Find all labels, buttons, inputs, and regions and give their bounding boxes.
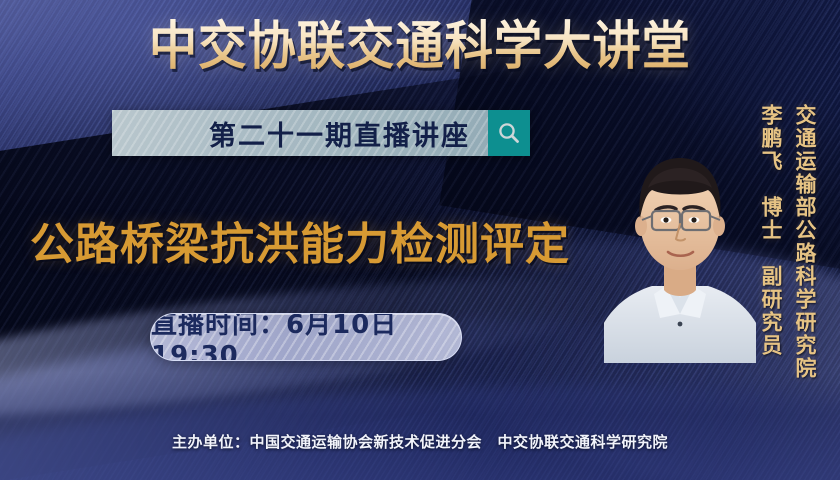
- search-icon-box[interactable]: [488, 110, 530, 156]
- speaker-organization: 交通运输部公路科学研究院: [790, 104, 820, 380]
- main-title: 中交协联交通科学大讲堂: [29, 18, 810, 76]
- episode-label: 第二十一期直播讲座: [209, 114, 470, 153]
- footer-gradient-band: [0, 372, 840, 480]
- live-time-pill: 直播时间：6月10日19:30: [150, 313, 462, 361]
- footer-organizers: 主办单位：中国交通运输协会新技术促进分会 中交协联交通科学研究院: [0, 431, 840, 452]
- episode-bar: 第二十一期直播讲座: [112, 110, 530, 156]
- speaker-name-title: 李鹏飞 博士 副研究员: [756, 104, 786, 357]
- search-icon: [496, 120, 522, 146]
- lecture-title: 公路桥梁抗洪能力检测评定: [30, 208, 570, 272]
- speaker-portrait: [604, 118, 756, 363]
- episode-bar-fill: 第二十一期直播讲座: [112, 110, 488, 156]
- live-time-label: 直播时间：6月10日19:30: [151, 313, 461, 361]
- speaker-portrait-image: [604, 118, 756, 363]
- poster-canvas: 中交协联交通科学大讲堂 第二十一期直播讲座 公路桥梁抗洪能力检测评定 直播时间：…: [0, 0, 840, 480]
